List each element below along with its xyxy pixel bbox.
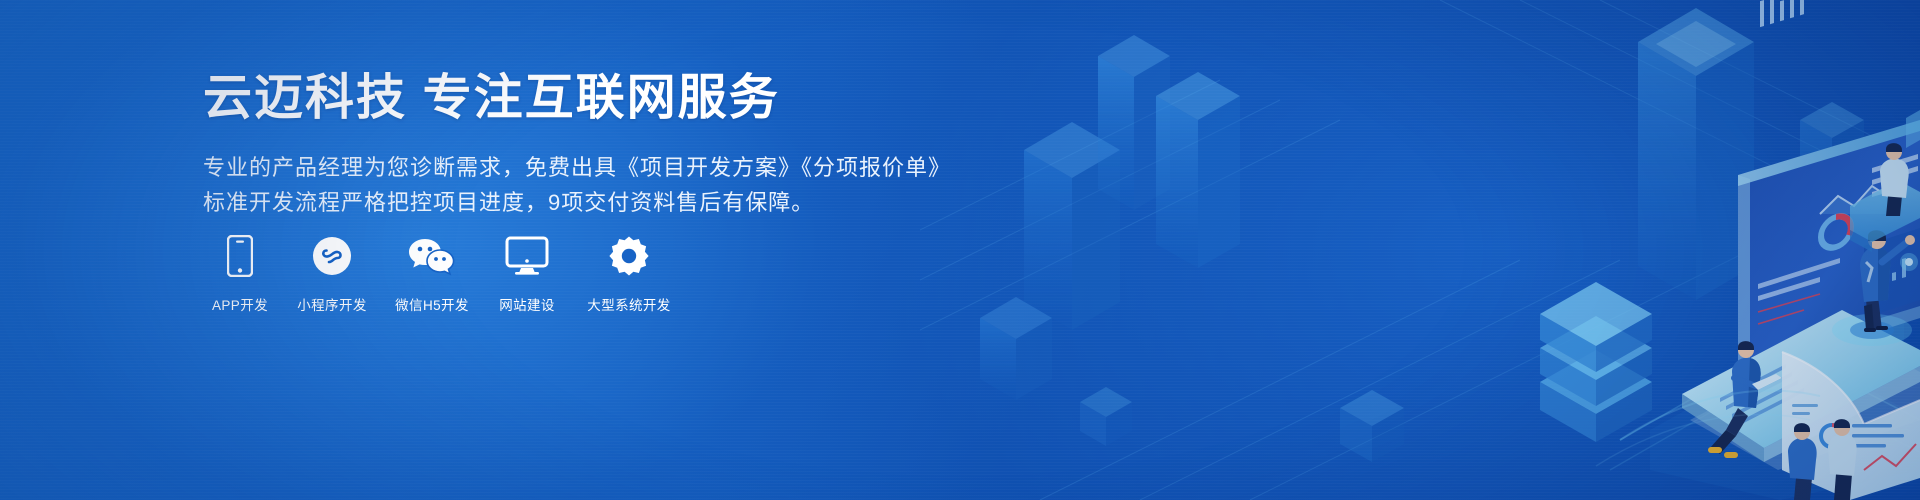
hero-illustration [920, 0, 1920, 500]
service-item-miniprogram[interactable]: 小程序开发 [289, 232, 375, 314]
mini-program-icon [312, 232, 352, 280]
gear-icon [608, 232, 650, 280]
page-title: 云迈科技 专注互联网服务 [203, 70, 943, 128]
service-label: 大型系统开发 [587, 294, 670, 314]
service-item-large-system[interactable]: 大型系统开发 [577, 232, 681, 314]
hero-subtitle-line-2: 标准开发流程严格把控项目进度，9项交付资料售后有保障。 [203, 185, 943, 221]
service-item-app[interactable]: APP开发 [203, 232, 277, 314]
wechat-icon [408, 232, 456, 280]
service-label: 网站建设 [499, 294, 555, 314]
service-item-website[interactable]: 网站建设 [489, 232, 565, 314]
service-list: APP开发 小程序开发 微信 [203, 232, 693, 314]
service-label: 微信H5开发 [395, 294, 469, 314]
service-item-wechat-h5[interactable]: 微信H5开发 [387, 232, 477, 314]
service-label: 小程序开发 [297, 294, 367, 314]
hero-subtitle-line-1: 专业的产品经理为您诊断需求，免费出具《项目开发方案》《分项报价单》 [203, 150, 943, 186]
hero-copy: 云迈科技 专注互联网服务 专业的产品经理为您诊断需求，免费出具《项目开发方案》《… [203, 70, 943, 221]
service-label: APP开发 [212, 294, 268, 314]
hero-banner: 云迈科技 专注互联网服务 专业的产品经理为您诊断需求，免费出具《项目开发方案》《… [0, 0, 1920, 500]
mobile-phone-icon [227, 232, 253, 280]
monitor-icon [505, 232, 549, 280]
